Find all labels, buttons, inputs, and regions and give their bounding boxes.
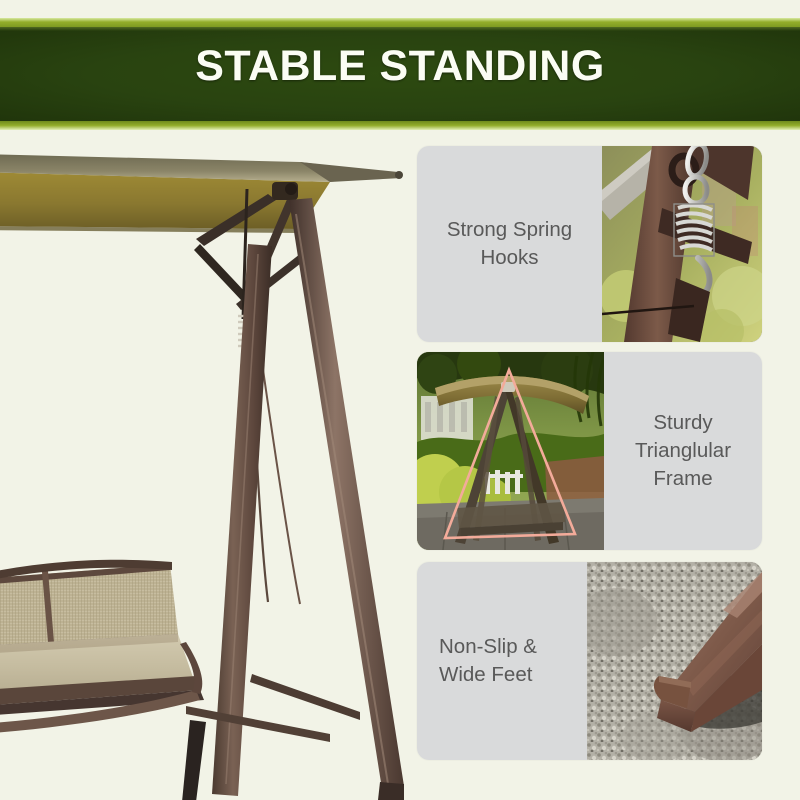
spring-hook-illustration (602, 146, 762, 342)
banner-stripe-bottom (0, 121, 800, 130)
triangular-frame-illustration (417, 352, 604, 550)
hero-product-image (0, 134, 410, 800)
header-banner: STABLE STANDING (0, 18, 800, 130)
feature-card-strong-spring-hooks[interactable]: Strong Spring Hooks (417, 146, 762, 342)
porch-swing-illustration (0, 134, 410, 800)
page-title: STABLE STANDING (0, 18, 800, 114)
triangular-frame-photo (417, 352, 604, 550)
feature-card-label: Sturdy Trianglular Frame (604, 352, 762, 550)
feature-card-sturdy-triangular-frame[interactable]: Sturdy Trianglular Frame (417, 352, 762, 550)
spring-hook-photo (602, 146, 762, 342)
feature-card-label: Non-Slip & Wide Feet (417, 562, 587, 760)
wide-foot-illustration (587, 562, 762, 760)
wide-foot-photo (587, 562, 762, 760)
feature-card-label: Strong Spring Hooks (417, 146, 602, 342)
feature-card-non-slip-wide-feet[interactable]: Non-Slip & Wide Feet (417, 562, 762, 760)
